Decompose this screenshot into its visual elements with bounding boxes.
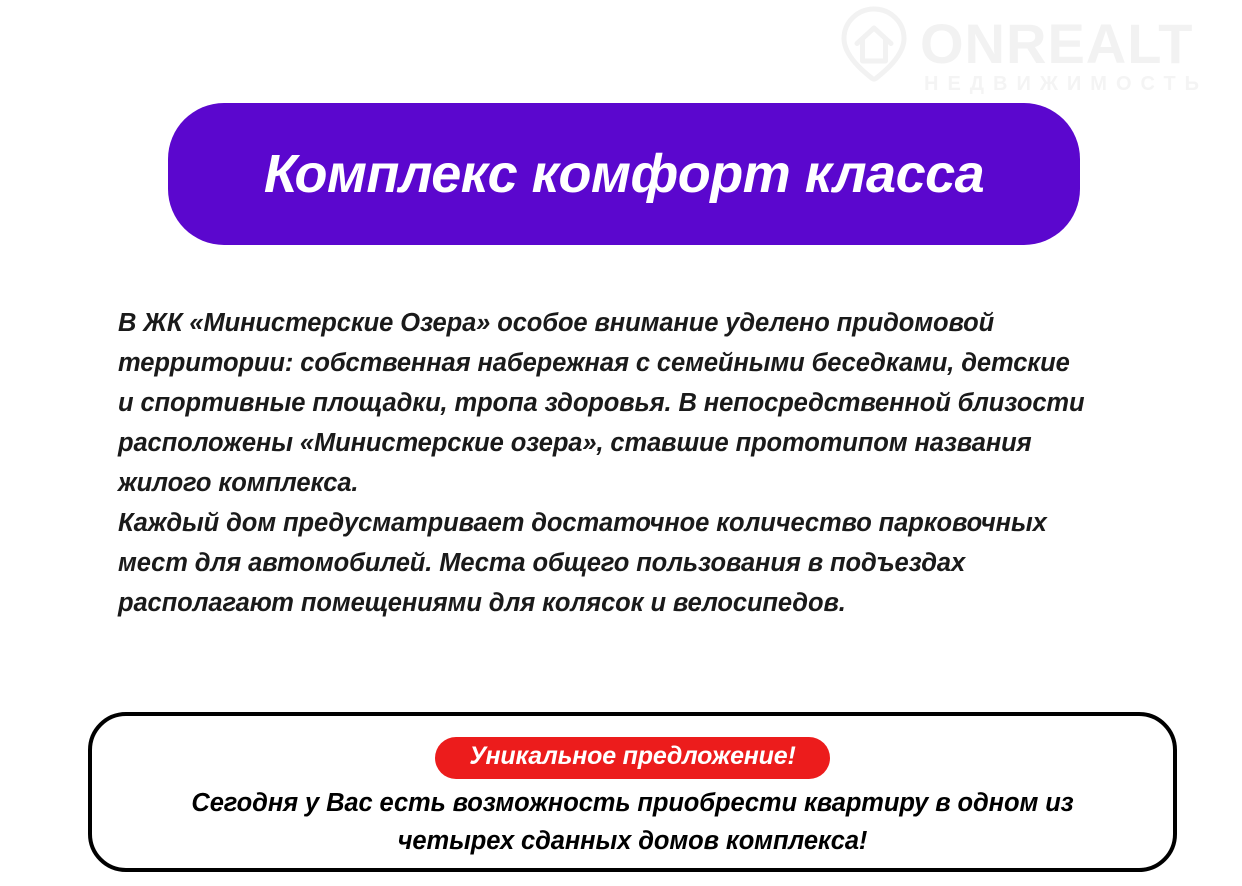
house-pin-icon — [838, 6, 910, 82]
watermark-subtitle: НЕДВИЖИМОСТЬ — [924, 74, 1208, 94]
description-line: жилого комплекса. — [118, 463, 1203, 503]
description-line: располагают помещениями для колясок и ве… — [118, 583, 1203, 623]
description-line: и спортивные площадки, тропа здоровья. В… — [118, 383, 1203, 423]
description-line: территории: собственная набережная с сем… — [118, 343, 1203, 383]
page-title: Комплекс комфорт класса — [264, 147, 984, 201]
watermark-brand: ONREALT — [920, 16, 1194, 72]
watermark-row: ONREALT — [838, 8, 1194, 80]
offer-line: четырех сданных домов комплекса! — [191, 822, 1073, 860]
heading-banner: Комплекс комфорт класса — [168, 103, 1080, 245]
description-line: мест для автомобилей. Места общего польз… — [118, 543, 1203, 583]
description-line: Каждый дом предусматривает достаточное к… — [118, 503, 1203, 543]
offer-text: Сегодня у Вас есть возможность приобрест… — [191, 784, 1073, 860]
offer-line: Сегодня у Вас есть возможность приобрест… — [191, 784, 1073, 822]
status-badge: Уникальное предложение! — [435, 737, 829, 779]
watermark: ONREALT НЕДВИЖИМОСТЬ — [838, 8, 1234, 104]
description-line: расположены «Министерские озера», ставши… — [118, 423, 1203, 463]
offer-box: Уникальное предложение! Сегодня у Вас ес… — [88, 712, 1177, 872]
promo-page: ONREALT НЕДВИЖИМОСТЬ Комплекс комфорт кл… — [0, 0, 1242, 886]
description-block: В ЖК «Министерские Озера» особое внимани… — [118, 303, 1203, 623]
description-line: В ЖК «Министерские Озера» особое внимани… — [118, 303, 1203, 343]
